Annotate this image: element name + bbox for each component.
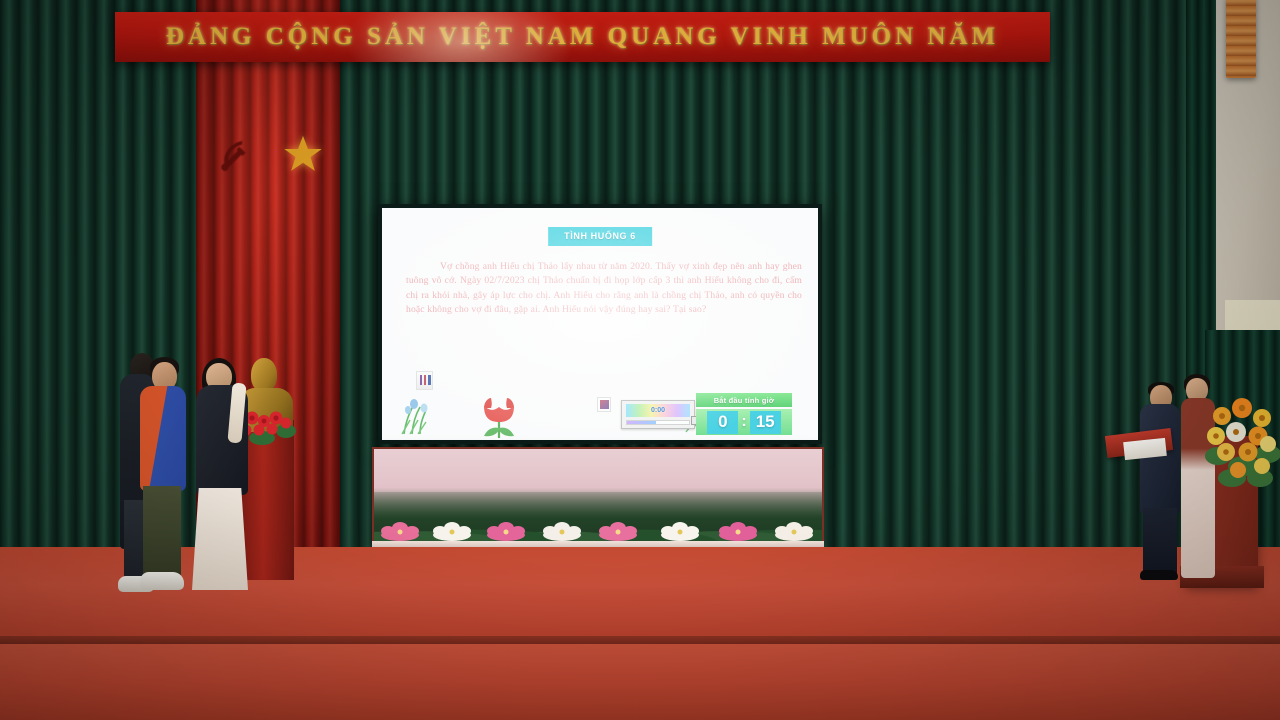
stage-floor-upper [0,547,1280,642]
bust-head [251,358,277,392]
lotus-white [774,515,814,541]
lotus-white [660,515,700,541]
person-legs [143,486,181,578]
player-time-display: 0:00 [651,407,665,414]
timer-minutes: 0 [707,411,738,434]
hammer-and-sickle-icon [215,136,255,176]
stage-scene: ĐẢNG CỘNG SẢN VIỆT NAM QUANG VINH MUÔN N… [0,0,1280,720]
player-progress-track[interactable] [626,420,690,425]
projection-screen-frame: TÌNH HUỐNG 6 Vợ chồng anh Hiếu chị Thảo … [378,204,822,444]
flower-bouquet [1204,386,1280,496]
person-torso [140,386,186,491]
red-tulip-clipart [476,394,522,440]
person-shoes [1140,570,1178,580]
photo-thumbnail-icon-2 [597,397,611,412]
slide-audio-player[interactable]: 0:00 [621,400,695,429]
timer-label: Bắt đầu tính giờ [696,393,792,407]
lotus-white [542,515,582,541]
lotus-pink [380,515,420,541]
lotus-white [432,515,472,541]
photo-thumbnail-icon [416,371,433,390]
person-skirt [192,488,248,590]
venue-banner-text: ĐẢNG CỘNG SẢN VIỆT NAM QUANG VINH MUÔN N… [166,23,999,51]
lotus-pink [718,515,758,541]
gold-star-icon [283,134,323,174]
stage-floor-lower [0,644,1280,720]
countdown-timer: Bắt đầu tính giờ 0 : 15 [696,393,792,437]
venue-banner: ĐẢNG CỘNG SẢN VIỆT NAM QUANG VINH MUÔN N… [115,12,1050,62]
lotus-pink [486,515,526,541]
wood-trim-decoration [1226,0,1256,78]
person-torso [1140,404,1180,514]
timer-digits: 0 : 15 [696,409,792,435]
slide-badge: TÌNH HUỐNG 6 [548,227,652,246]
timer-seconds: 15 [750,411,781,434]
timer-separator: : [741,413,746,431]
lotus-pink [598,515,638,541]
person-shoes [140,572,184,590]
projection-screen: TÌNH HUỐNG 6 Vợ chồng anh Hiếu chị Thảo … [382,208,818,440]
person-legs [1143,508,1177,576]
bluebell-flower-clipart [400,398,442,436]
lotus-flower-mural [372,447,824,547]
player-visualizer: 0:00 [626,404,690,417]
slide-body-text: Vợ chồng anh Hiếu chị Thảo lấy nhau từ n… [406,260,802,317]
